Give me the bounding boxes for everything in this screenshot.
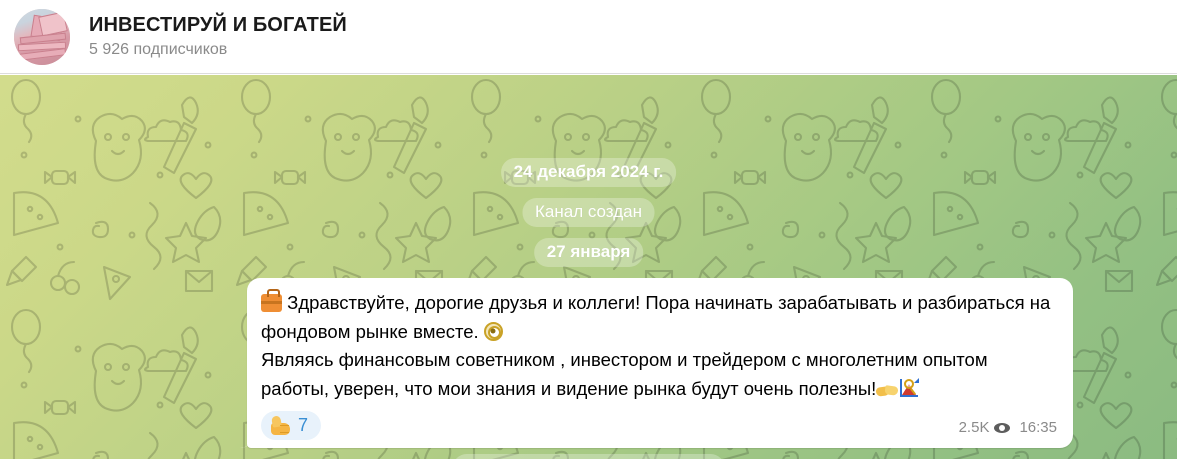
channel-meta: ИНВЕСТИРУЙ И БОГАТЕЙ 5 926 подписчиков bbox=[89, 13, 347, 61]
chat-area[interactable]: 24 декабря 2024 г. Канал создан 27 январ… bbox=[0, 75, 1177, 459]
briefcase-icon bbox=[261, 294, 282, 312]
message-timestamp: 16:35 bbox=[1019, 419, 1057, 437]
chart-with-magnifier-icon bbox=[898, 378, 919, 398]
service-message-photo-updated: Фотография канала обновлена bbox=[452, 454, 725, 459]
service-message-channel-created: Канал создан bbox=[522, 198, 655, 227]
message-bubble[interactable]: Здравствуйте, дорогие друзья и коллеги! … bbox=[247, 278, 1073, 448]
bullseye-icon bbox=[484, 322, 503, 341]
message-footer: 7 2.5K 16:35 bbox=[261, 411, 1059, 440]
eye-icon bbox=[994, 420, 1010, 436]
message-status: 2.5K 16:35 bbox=[959, 419, 1059, 440]
channel-header[interactable]: ИНВЕСТИРУЙ И БОГАТЕЙ 5 926 подписчиков bbox=[0, 0, 1177, 74]
message-line-1: Здравствуйте, дорогие друзья и коллеги! … bbox=[261, 292, 1050, 342]
reaction-thumbs-up[interactable]: 7 bbox=[261, 411, 321, 440]
message-text: Здравствуйте, дорогие друзья и коллеги! … bbox=[261, 289, 1059, 403]
reaction-count: 7 bbox=[298, 416, 308, 435]
subscriber-count: 5 926 подписчиков bbox=[89, 39, 347, 61]
view-count: 2.5K bbox=[959, 419, 990, 437]
handshake-icon bbox=[876, 384, 898, 398]
service-message-date: 27 января bbox=[534, 238, 644, 267]
service-message-date: 24 декабря 2024 г. bbox=[501, 158, 677, 187]
thumbs-up-icon bbox=[271, 416, 291, 435]
avatar[interactable] bbox=[14, 9, 70, 65]
channel-title: ИНВЕСТИРУЙ И БОГАТЕЙ bbox=[89, 13, 347, 37]
